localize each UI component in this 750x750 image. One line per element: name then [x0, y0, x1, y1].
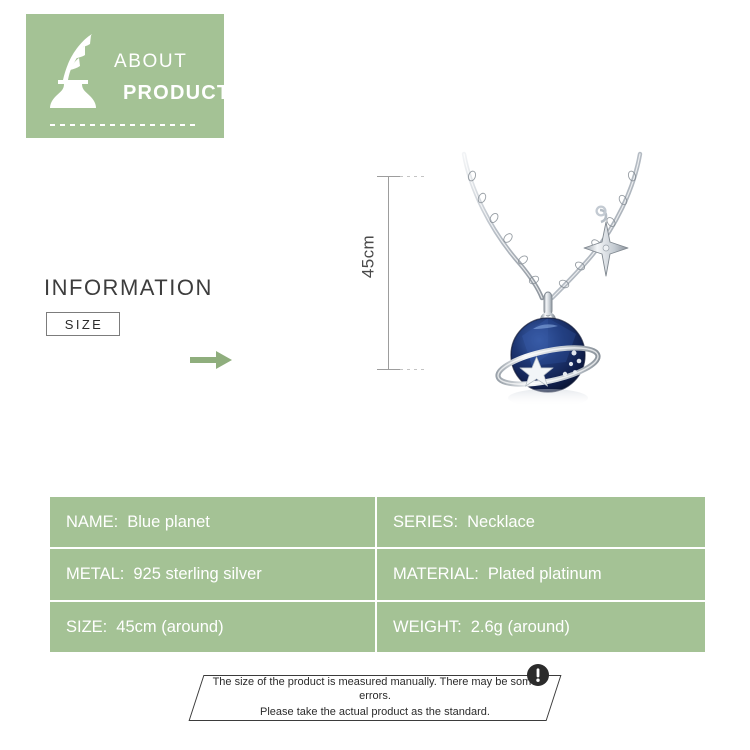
- spec-value-size: 45cm (around): [116, 619, 223, 636]
- spec-key-size: SIZE:: [66, 619, 107, 636]
- header-line-product: PRODUCT: [123, 83, 224, 103]
- product-spec-table: NAME: Blue planet SERIES: Necklace METAL…: [50, 497, 703, 652]
- measure-extension-top: [400, 176, 426, 177]
- exclamation-circle-icon: [526, 663, 550, 687]
- information-heading: INFORMATION: [44, 277, 213, 299]
- spec-cell-material: MATERIAL: Plated platinum: [377, 549, 705, 599]
- measurement-disclaimer: The size of the product is measured manu…: [196, 675, 554, 721]
- spec-key-name: NAME:: [66, 514, 118, 531]
- quill-inkwell-icon: [42, 28, 104, 110]
- disclaimer-line-1: The size of the product is measured manu…: [196, 676, 554, 704]
- measure-cap-bottom: [377, 369, 400, 370]
- header-title-group: ABOUT PRODUCT: [114, 52, 224, 103]
- disclaimer-text: The size of the product is measured manu…: [196, 675, 554, 721]
- spec-value-material: Plated platinum: [488, 566, 602, 583]
- green-right-arrow-icon: [190, 350, 232, 370]
- spec-value-series: Necklace: [467, 514, 535, 531]
- spec-value-metal: 925 sterling silver: [133, 566, 261, 583]
- size-tag-box: SIZE: [46, 312, 120, 336]
- star-charm: [584, 207, 628, 276]
- blue-planet-necklace-photo: [428, 148, 668, 406]
- header-dashed-divider: [50, 124, 200, 126]
- spec-key-material: MATERIAL:: [393, 566, 479, 583]
- spec-cell-name: NAME: Blue planet: [50, 497, 375, 547]
- length-measurement-ruler: 45cm: [356, 170, 416, 376]
- size-tag-label: SIZE: [63, 318, 104, 331]
- disclaimer-line-2: Please take the actual product as the st…: [260, 706, 490, 720]
- spec-key-metal: METAL:: [66, 566, 124, 583]
- spec-value-weight: 2.6g (around): [471, 619, 570, 636]
- measure-vertical-line: [388, 176, 389, 369]
- measure-extension-bottom: [400, 369, 426, 370]
- planet-gem: [495, 318, 601, 392]
- header-line-about: ABOUT: [114, 52, 224, 71]
- spec-cell-weight: WEIGHT: 2.6g (around): [377, 602, 705, 652]
- spec-key-series: SERIES:: [393, 514, 458, 531]
- spec-cell-metal: METAL: 925 sterling silver: [50, 549, 375, 599]
- spec-cell-series: SERIES: Necklace: [377, 497, 705, 547]
- about-product-header-badge: ABOUT PRODUCT: [26, 14, 224, 138]
- spec-value-name: Blue planet: [127, 514, 210, 531]
- spec-key-weight: WEIGHT:: [393, 619, 462, 636]
- measure-length-label: 45cm: [360, 226, 377, 288]
- product-info-infographic: ABOUT PRODUCT INFORMATION SIZE 45cm: [0, 0, 750, 750]
- spec-cell-size: SIZE: 45cm (around): [50, 602, 375, 652]
